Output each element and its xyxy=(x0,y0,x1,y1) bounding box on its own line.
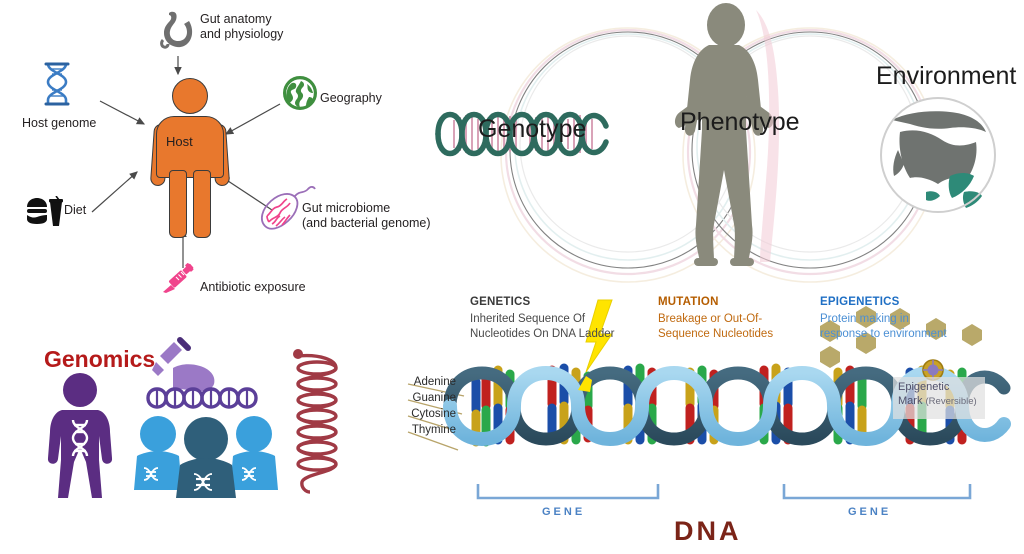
body-genetics: Inherited Sequence Of Nucleotides On DNA… xyxy=(470,312,614,341)
epigenetic-mark-line1: Epigenetic xyxy=(898,381,949,393)
panel-host-microbiome: Host Gut anatomy and physiology Host gen… xyxy=(0,0,450,310)
dna-helix-icon xyxy=(42,62,72,106)
label-adenine: Adenine xyxy=(384,376,456,388)
globe-icon xyxy=(283,76,317,110)
heading-mutation: MUTATION xyxy=(658,296,719,308)
label-antibiotic-exposure: Antibiotic exposure xyxy=(200,280,306,295)
host-leg-left xyxy=(169,170,187,238)
heading-epigenetics: EPIGENETICS xyxy=(820,296,900,308)
heading-genetics: GENETICS xyxy=(470,296,530,308)
figure-canvas: Host Gut anatomy and physiology Host gen… xyxy=(0,0,1024,554)
gene-label-right: GENE xyxy=(848,506,891,518)
host-figure: Host xyxy=(150,78,230,238)
label-genotype: Genotype xyxy=(478,115,586,144)
host-head xyxy=(172,78,208,114)
dna-title: DNA xyxy=(674,516,742,547)
label-host-genome: Host genome xyxy=(22,116,96,131)
burger-icon xyxy=(26,196,64,228)
label-gut-anatomy: Gut anatomy and physiology xyxy=(200,12,283,42)
syringe-icon xyxy=(163,263,197,293)
epigenetic-mark-word: Mark xyxy=(898,395,922,407)
panel-dna-diagram: GENETICS Inherited Sequence Of Nucleotid… xyxy=(390,290,1024,554)
label-thymine: Thymine xyxy=(384,424,456,436)
panel-genotype-phenotype-environment: Genotype Phenotype Environment xyxy=(430,0,1024,290)
gene-brackets xyxy=(478,484,970,498)
label-gut-microbiome: Gut microbiome (and bacterial genome) xyxy=(302,201,431,231)
label-diet: Diet xyxy=(64,203,86,218)
label-cytosine: Cytosine xyxy=(384,408,456,420)
label-guanine: Guanine xyxy=(384,392,456,404)
host-label: Host xyxy=(166,134,193,149)
body-mutation: Breakage or Out-Of- Sequence Nucleotides xyxy=(658,312,773,341)
label-phenotype: Phenotype xyxy=(680,108,800,137)
epigenetic-mark-note: (Reversible) xyxy=(926,396,977,407)
genomics-art-layer xyxy=(10,332,360,504)
host-leg-right xyxy=(193,170,211,238)
stomach-icon xyxy=(160,10,194,54)
body-epigenetics: Protein making in response to environmen… xyxy=(820,312,947,341)
epigenetic-mark-line2: Mark (Reversible) xyxy=(898,395,977,407)
panel-genomics: Genomics xyxy=(10,332,360,504)
genomics-person xyxy=(48,373,112,498)
gene-label-left: GENE xyxy=(542,506,585,518)
label-geography: Geography xyxy=(320,91,382,106)
label-environment: Environment xyxy=(876,62,1016,91)
gpe-art-layer xyxy=(430,0,1024,290)
